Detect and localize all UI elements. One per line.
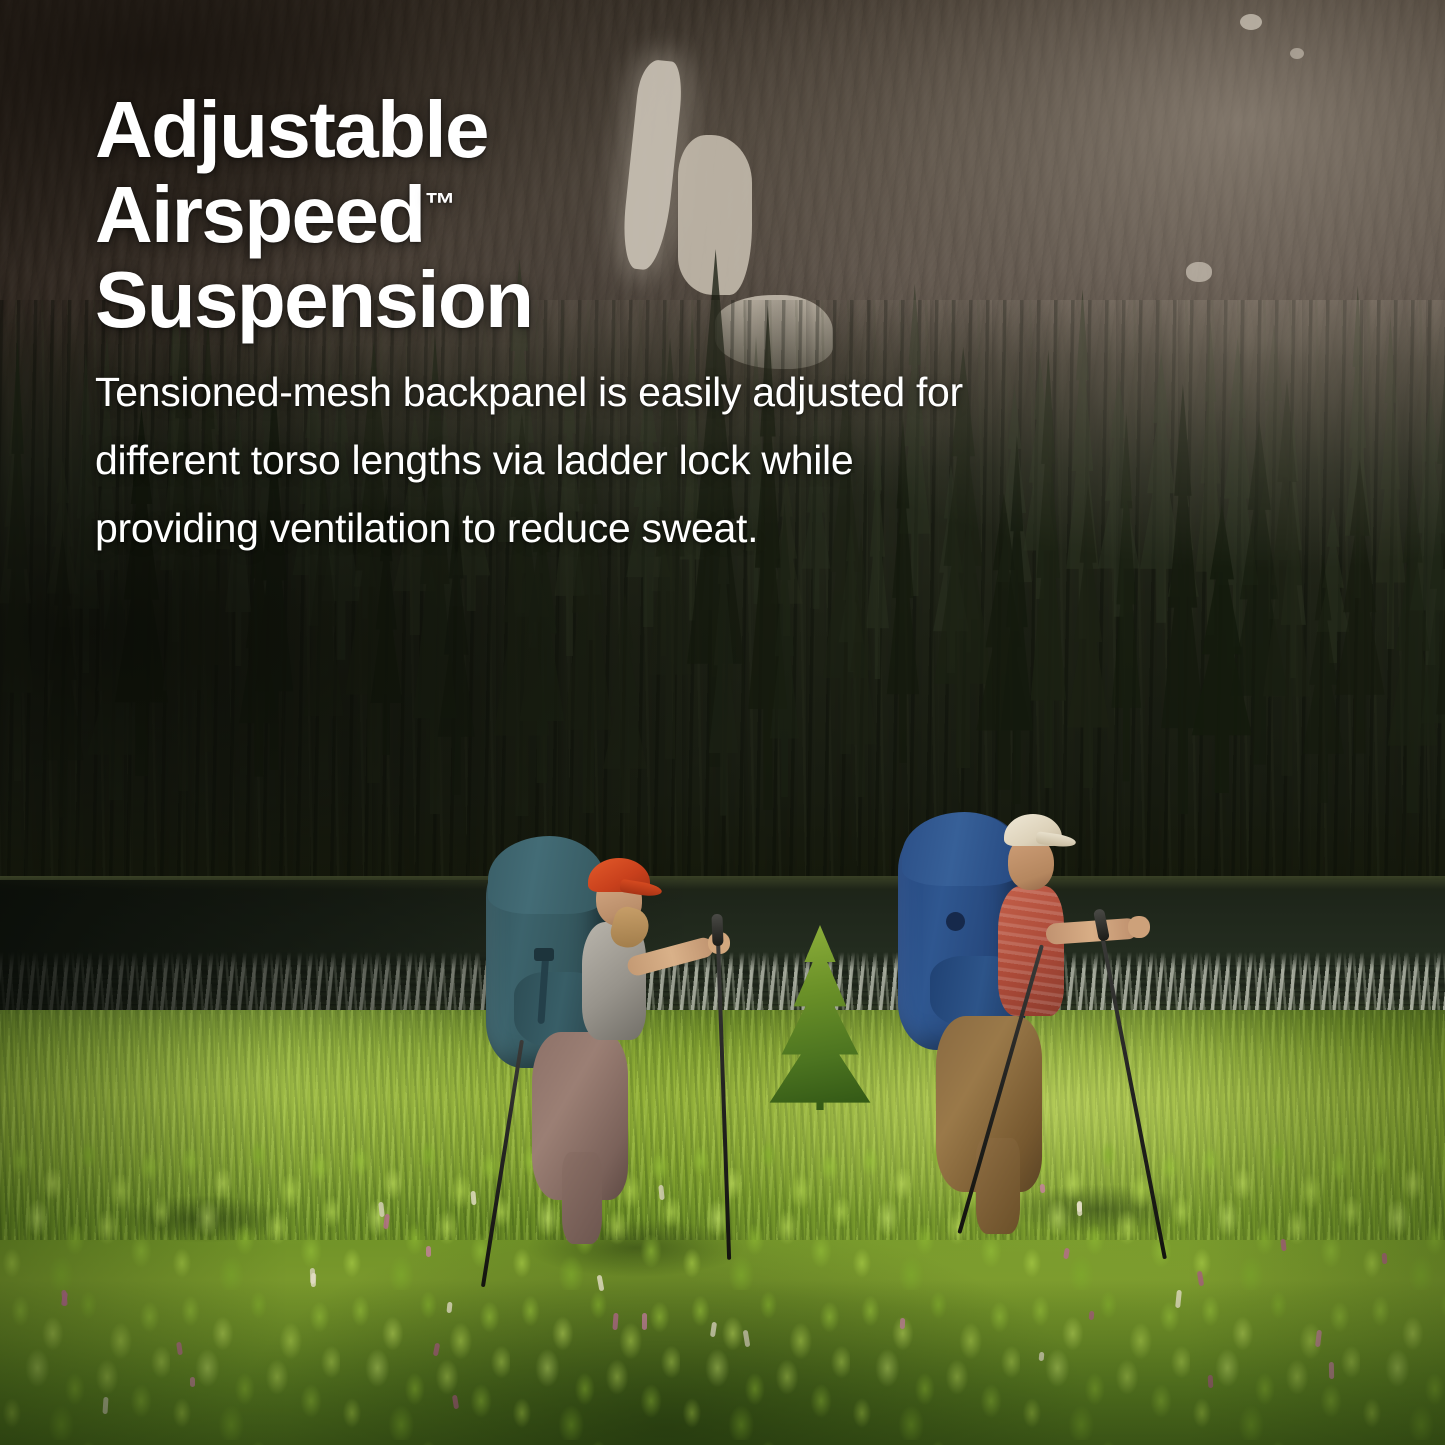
promo-text-block: Adjustable Airspeed™ Suspension Tensione… [95, 88, 995, 563]
trademark-icon: ™ [425, 186, 456, 221]
hiker-man-hand [1128, 916, 1150, 938]
backpack-buckle [946, 912, 965, 931]
hiker-man [880, 770, 1120, 1240]
young-conifer-sapling [760, 925, 880, 1110]
snow-patch [1186, 262, 1212, 282]
lake-shadow [0, 880, 1445, 1030]
sapling-foliage [760, 925, 880, 1110]
promo-scene: Adjustable Airspeed™ Suspension Tensione… [0, 0, 1445, 1445]
trekking-pole-grip [711, 914, 723, 946]
hiker-woman [470, 800, 690, 1250]
hiker-woman-leg [562, 1152, 602, 1244]
hiker-man-shirt [998, 886, 1064, 1016]
page-title: Adjustable Airspeed™ Suspension [95, 88, 655, 342]
snow-patch [1290, 48, 1304, 59]
headline-line-1: Adjustable [95, 85, 488, 174]
promo-body-text: Tensioned-mesh backpanel is easily adjus… [95, 358, 985, 562]
headline-line-3: Suspension [95, 255, 532, 344]
backpack-buckle [534, 948, 554, 961]
headline-line-2: Airspeed [95, 170, 425, 259]
snow-patch [1240, 14, 1262, 30]
